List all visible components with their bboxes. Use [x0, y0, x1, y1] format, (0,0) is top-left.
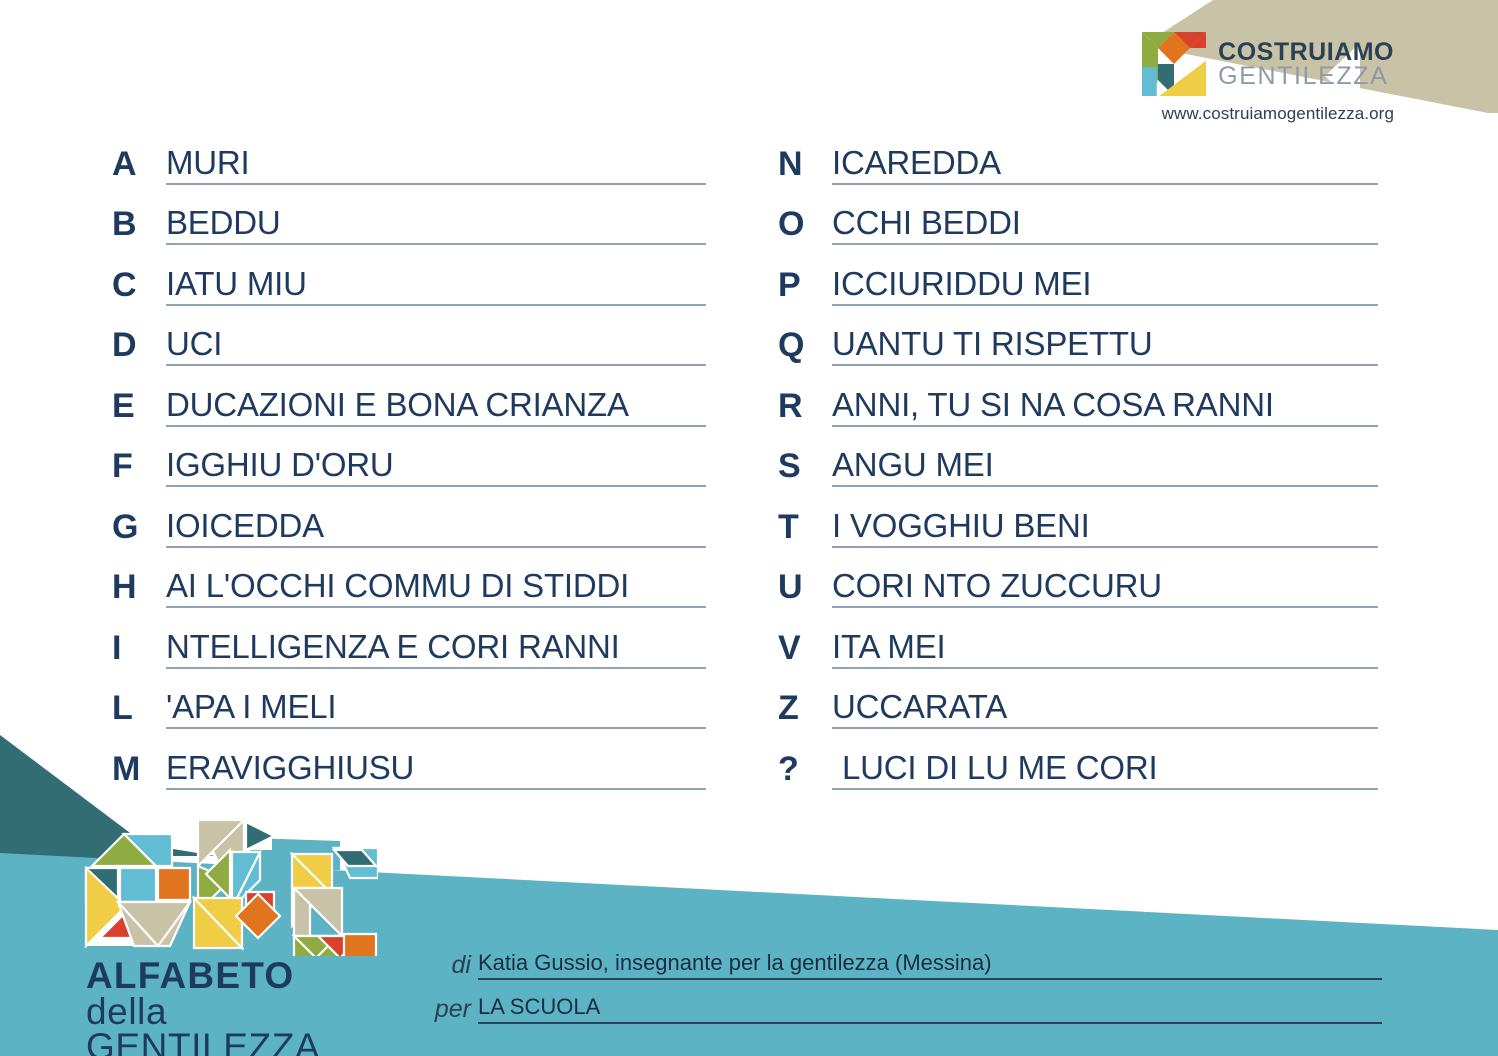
- alphabet-columns: AMURI BBEDDU CIATU MIU DUCI EDUCAZIONI E…: [0, 124, 1498, 790]
- brand-line2: GENTILEZZA: [1218, 64, 1394, 89]
- entry-field[interactable]: CORI NTO ZUCCURU: [832, 569, 1378, 608]
- entry-value: DUCAZIONI E BONA CRIANZA: [166, 386, 629, 423]
- alphabet-entry: FIGGHIU D'ORU: [112, 427, 706, 488]
- entry-value: 'APA I MELI: [166, 688, 336, 725]
- entry-value: UCCARATA: [832, 688, 1007, 725]
- entry-field[interactable]: ERAVIGGHIUSU: [166, 751, 706, 790]
- entry-field[interactable]: ICAREDDA: [832, 146, 1378, 185]
- entry-field[interactable]: IOICEDDA: [166, 509, 706, 548]
- entry-letter: V: [778, 631, 832, 669]
- entry-letter: M: [112, 752, 166, 790]
- entry-letter: D: [112, 328, 166, 366]
- alphabet-column-right: NICAREDDA OCCHI BEDDI PICCIURIDDU MEI QU…: [778, 124, 1378, 790]
- entry-field[interactable]: 'APA I MELI: [166, 690, 706, 729]
- alphabet-entry: ZUCCARATA: [778, 669, 1378, 730]
- entry-field[interactable]: UANTU TI RISPETTU: [832, 327, 1378, 366]
- entry-value: ICCIURIDDU MEI: [832, 265, 1091, 302]
- entry-field[interactable]: NTELLIGENZA E CORI RANNI: [166, 630, 706, 669]
- entry-field[interactable]: IATU MIU: [166, 267, 706, 306]
- entry-letter: Q: [778, 328, 832, 366]
- entry-letter: Z: [778, 691, 832, 729]
- credit-value-for: LA SCUOLA: [478, 994, 600, 1019]
- alphabet-entry: HAI L'OCCHI COMMU DI STIDDI: [112, 548, 706, 609]
- entry-letter: C: [112, 268, 166, 306]
- alfabeto-line1: ALFABETO: [86, 958, 398, 994]
- entry-field[interactable]: ITA MEI: [832, 630, 1378, 669]
- brand-header: COSTRUIAMO GENTILEZZA www.costruiamogent…: [1142, 32, 1394, 124]
- alphabet-entry: ?LUCI DI LU ME CORI: [778, 729, 1378, 790]
- entry-letter: F: [112, 449, 166, 487]
- alphabet-entry: GIOICEDDA: [112, 487, 706, 548]
- brand-row: COSTRUIAMO GENTILEZZA: [1142, 32, 1394, 96]
- alfabeto-gentilezza-logo: ALFABETO della GENTILEZZA: [78, 806, 398, 1056]
- alphabet-entry: L'APA I MELI: [112, 669, 706, 730]
- alphabet-entry: TI VOGGHIU BENI: [778, 487, 1378, 548]
- entry-letter: A: [112, 147, 166, 185]
- entry-letter: N: [778, 147, 832, 185]
- entry-letter: B: [112, 207, 166, 245]
- entry-field[interactable]: IGGHIU D'ORU: [166, 448, 706, 487]
- entry-field[interactable]: I VOGGHIU BENI: [832, 509, 1378, 548]
- entry-letter: L: [112, 691, 166, 729]
- credit-value-author: Katia Gussio, insegnante per la gentilez…: [478, 950, 992, 975]
- entry-letter: E: [112, 389, 166, 427]
- alphabet-column-left: AMURI BBEDDU CIATU MIU DUCI EDUCAZIONI E…: [112, 124, 706, 790]
- entry-field[interactable]: AI L'OCCHI COMMU DI STIDDI: [166, 569, 706, 608]
- entry-value: ANGU MEI: [832, 446, 994, 483]
- alphabet-entry: NICAREDDA: [778, 124, 1378, 185]
- alfabeto-gentilezza-tangram-abc: [78, 806, 378, 956]
- credit-label-per: per: [432, 997, 478, 1024]
- entry-value: IATU MIU: [166, 265, 307, 302]
- credit-row-author: di Katia Gussio, insegnante per la genti…: [432, 936, 1382, 980]
- costruiamo-gentilezza-tangram-k-logo: [1142, 32, 1206, 96]
- entry-letter: I: [112, 631, 166, 669]
- entry-value: NTELLIGENZA E CORI RANNI: [166, 628, 620, 665]
- entry-value: BEDDU: [166, 204, 281, 241]
- entry-field[interactable]: ANNI, TU SI NA COSA RANNI: [832, 388, 1378, 427]
- alphabet-entry: AMURI: [112, 124, 706, 185]
- brand-website-url[interactable]: www.costruiamogentilezza.org: [1162, 104, 1394, 124]
- alphabet-entry: VITA MEI: [778, 608, 1378, 669]
- credits-block: di Katia Gussio, insegnante per la genti…: [432, 936, 1382, 1024]
- alphabet-entry: PICCIURIDDU MEI: [778, 245, 1378, 306]
- entry-letter: H: [112, 570, 166, 608]
- credit-label-di: di: [432, 953, 478, 980]
- brand-line1: COSTRUIAMO: [1218, 40, 1394, 65]
- entry-letter: O: [778, 207, 832, 245]
- entry-letter: R: [778, 389, 832, 427]
- entry-letter: ?: [778, 752, 832, 790]
- poster-page: COSTRUIAMO GENTILEZZA www.costruiamogent…: [0, 0, 1498, 1056]
- entry-value: CORI NTO ZUCCURU: [832, 567, 1162, 604]
- brand-wordmark: COSTRUIAMO GENTILEZZA: [1218, 40, 1394, 89]
- entry-field[interactable]: MURI: [166, 146, 706, 185]
- alphabet-entry: INTELLIGENZA E CORI RANNI: [112, 608, 706, 669]
- entry-letter: U: [778, 570, 832, 608]
- credit-field-author[interactable]: Katia Gussio, insegnante per la gentilez…: [478, 951, 1382, 980]
- entry-letter: S: [778, 449, 832, 487]
- entry-value: LUCI DI LU ME CORI: [832, 749, 1157, 786]
- alfabeto-line2: della GENTILEZZA: [86, 994, 398, 1056]
- alfabeto-wordmark: ALFABETO della GENTILEZZA: [86, 958, 398, 1056]
- entry-value: ITA MEI: [832, 628, 946, 665]
- entry-value: ANNI, TU SI NA COSA RANNI: [832, 386, 1274, 423]
- alphabet-entry: OCCHI BEDDI: [778, 185, 1378, 246]
- alphabet-entry: QUANTU TI RISPETTU: [778, 306, 1378, 367]
- entry-letter: T: [778, 510, 832, 548]
- alphabet-entry: RANNI, TU SI NA COSA RANNI: [778, 366, 1378, 427]
- credit-row-for: per LA SCUOLA: [432, 980, 1382, 1024]
- entry-field[interactable]: BEDDU: [166, 206, 706, 245]
- entry-field[interactable]: ICCIURIDDU MEI: [832, 267, 1378, 306]
- credit-field-for[interactable]: LA SCUOLA: [478, 995, 1382, 1024]
- alphabet-entry: EDUCAZIONI E BONA CRIANZA: [112, 366, 706, 427]
- entry-value: ERAVIGGHIUSU: [166, 749, 414, 786]
- entry-field[interactable]: DUCAZIONI E BONA CRIANZA: [166, 388, 706, 427]
- entry-letter: P: [778, 268, 832, 306]
- entry-value: IGGHIU D'ORU: [166, 446, 394, 483]
- alphabet-entry: DUCI: [112, 306, 706, 367]
- entry-value: CCHI BEDDI: [832, 204, 1021, 241]
- entry-letter: G: [112, 510, 166, 548]
- alphabet-entry: MERAVIGGHIUSU: [112, 729, 706, 790]
- alphabet-entry: CIATU MIU: [112, 245, 706, 306]
- entry-value: ICAREDDA: [832, 144, 1001, 181]
- entry-value: IOICEDDA: [166, 507, 324, 544]
- entry-field[interactable]: ANGU MEI: [832, 448, 1378, 487]
- alphabet-entry: SANGU MEI: [778, 427, 1378, 488]
- entry-value: I VOGGHIU BENI: [832, 507, 1090, 544]
- entry-field[interactable]: UCI: [166, 327, 706, 366]
- entry-value: AI L'OCCHI COMMU DI STIDDI: [166, 567, 629, 604]
- entry-field[interactable]: CCHI BEDDI: [832, 206, 1378, 245]
- entry-value: UANTU TI RISPETTU: [832, 325, 1153, 362]
- alphabet-entry: BBEDDU: [112, 185, 706, 246]
- entry-value: MURI: [166, 144, 250, 181]
- entry-value: UCI: [166, 325, 222, 362]
- alphabet-entry: UCORI NTO ZUCCURU: [778, 548, 1378, 609]
- entry-field[interactable]: UCCARATA: [832, 690, 1378, 729]
- entry-field[interactable]: LUCI DI LU ME CORI: [832, 751, 1378, 790]
